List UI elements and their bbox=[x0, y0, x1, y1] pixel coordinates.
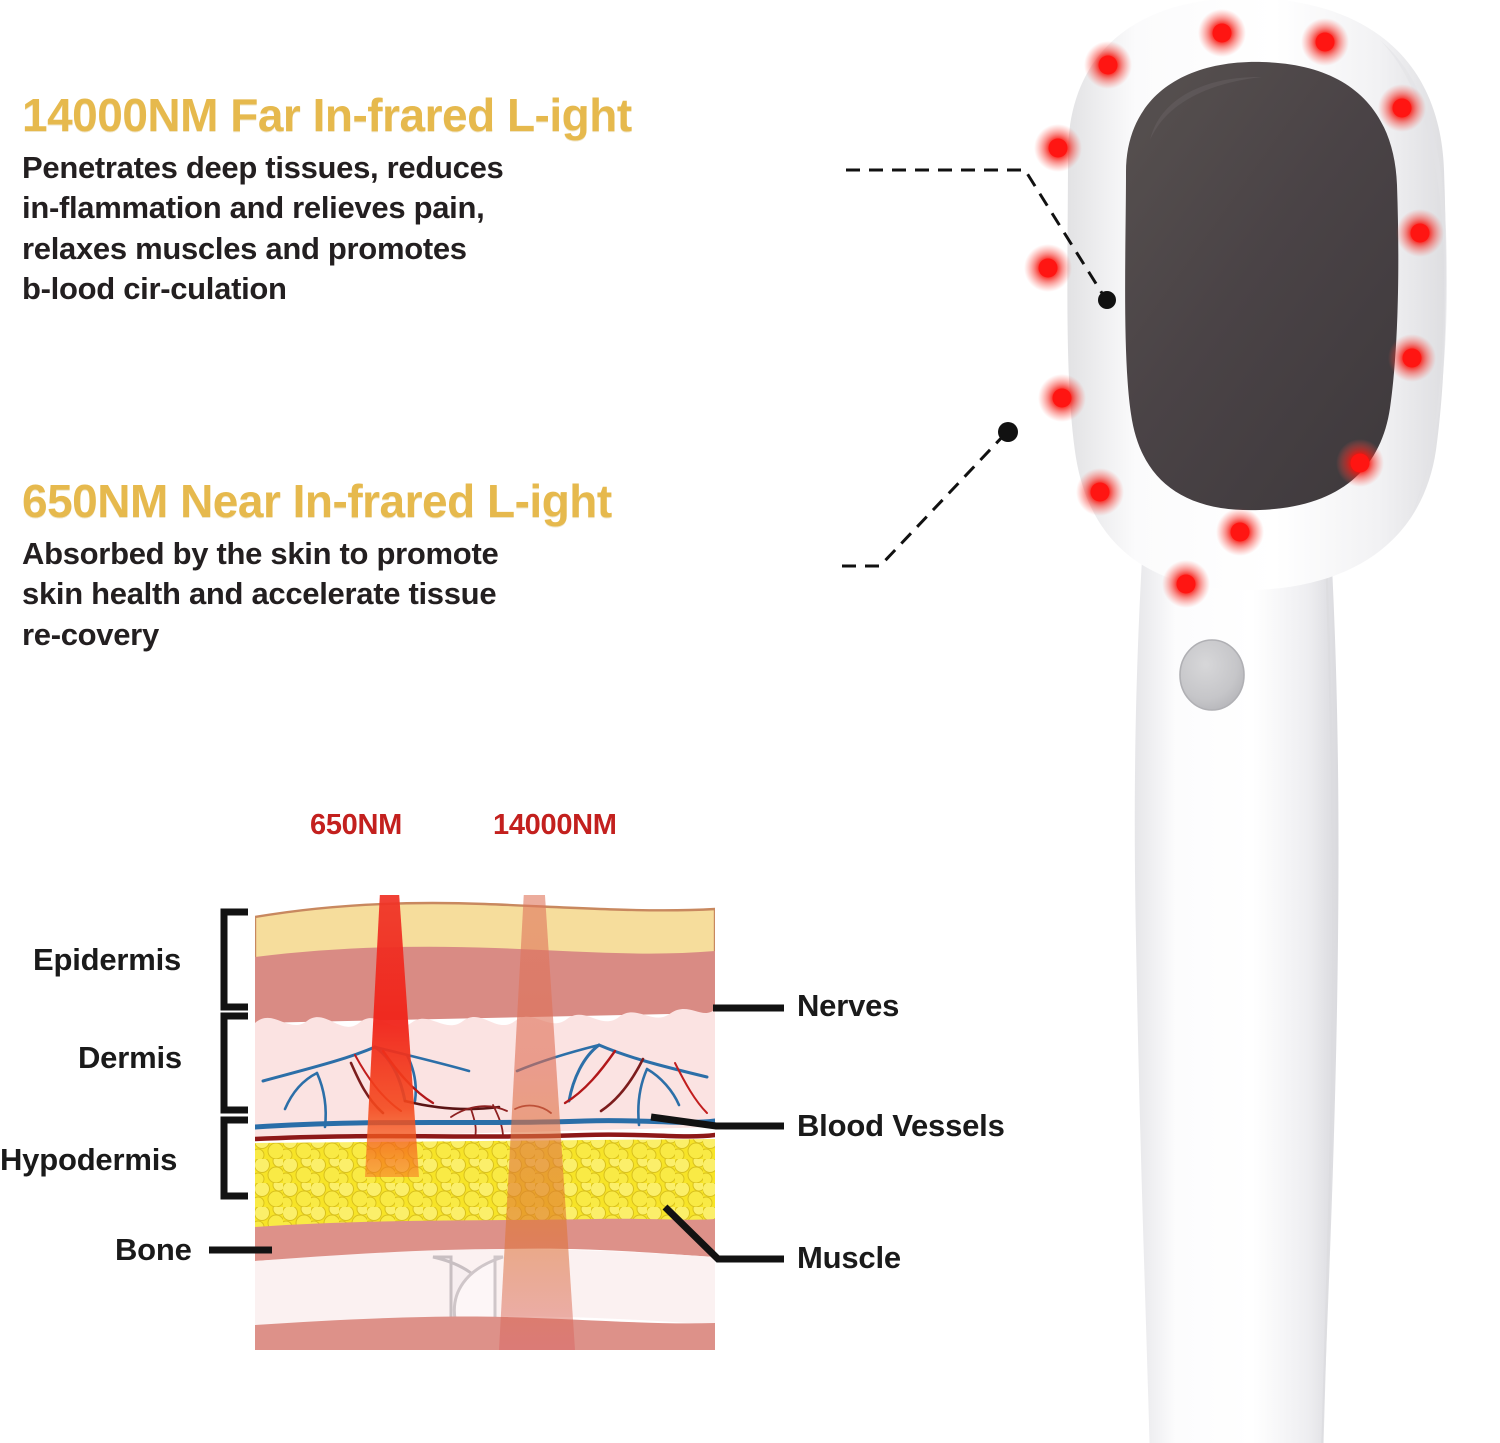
led-light bbox=[1388, 334, 1436, 382]
led-light bbox=[1198, 9, 1246, 57]
diagram-label-dermis: Dermis bbox=[78, 1040, 182, 1076]
led-light bbox=[1034, 124, 1082, 172]
diagram-label-epidermis: Epidermis bbox=[33, 942, 181, 978]
feature-body-line: in-flammation and relieves pain, bbox=[22, 188, 632, 228]
beam-label-650nm: 650NM bbox=[310, 809, 402, 842]
feature-body-line: b-lood cir-culation bbox=[22, 269, 632, 309]
led-light bbox=[1216, 508, 1264, 556]
feature-body-line: relaxes muscles and promotes bbox=[22, 229, 632, 269]
feature-title-far-infrared: 14000NM Far In-frared L-ight bbox=[22, 92, 632, 138]
infographic-page: 14000NM Far In-frared L-ight Penetrates … bbox=[0, 0, 1500, 1443]
feature-body-line: skin health and accelerate tissue bbox=[22, 574, 612, 614]
bracket-epidermis bbox=[224, 912, 248, 1007]
bracket-hypodermis bbox=[224, 1120, 248, 1196]
feature-title-near-infrared: 650NM Near In-frared L-ight bbox=[22, 478, 612, 524]
feature-body-line: re-covery bbox=[22, 615, 612, 655]
power-button[interactable] bbox=[1180, 640, 1244, 710]
feature-far-infrared: 14000NM Far In-frared L-ight Penetrates … bbox=[22, 92, 632, 309]
feature-body-far-infrared: Penetrates deep tissues, reduces in-flam… bbox=[22, 148, 632, 309]
layer-muscle-lower bbox=[255, 1316, 715, 1350]
bracket-dermis bbox=[224, 1016, 248, 1110]
feature-near-infrared: 650NM Near In-frared L-ight Absorbed by … bbox=[22, 478, 612, 655]
led-light bbox=[1024, 244, 1072, 292]
device-illustration bbox=[950, 0, 1500, 1443]
led-light bbox=[1301, 18, 1349, 66]
diagram-label-muscle: Muscle bbox=[797, 1240, 901, 1276]
diagram-label-blood-vessels: Blood Vessels bbox=[797, 1108, 1005, 1144]
feature-body-line: Penetrates deep tissues, reduces bbox=[22, 148, 632, 188]
layer-hypodermis bbox=[255, 1139, 715, 1227]
led-light bbox=[1336, 439, 1384, 487]
diagram-label-nerves: Nerves bbox=[797, 988, 899, 1024]
beam-label-14000nm: 14000NM bbox=[493, 809, 617, 842]
diagram-label-hypodermis: Hypodermis bbox=[0, 1142, 177, 1178]
led-light bbox=[1038, 374, 1086, 422]
feature-body-near-infrared: Absorbed by the skin to promote skin hea… bbox=[22, 534, 612, 655]
feature-body-line: Absorbed by the skin to promote bbox=[22, 534, 612, 574]
led-light bbox=[1076, 468, 1124, 516]
layer-epidermis bbox=[255, 947, 715, 1023]
led-light bbox=[1084, 41, 1132, 89]
led-light bbox=[1162, 560, 1210, 608]
diagram-label-bone: Bone bbox=[115, 1232, 192, 1268]
skin-cross-section-diagram bbox=[255, 895, 715, 1350]
led-light bbox=[1396, 209, 1444, 257]
led-light bbox=[1378, 84, 1426, 132]
